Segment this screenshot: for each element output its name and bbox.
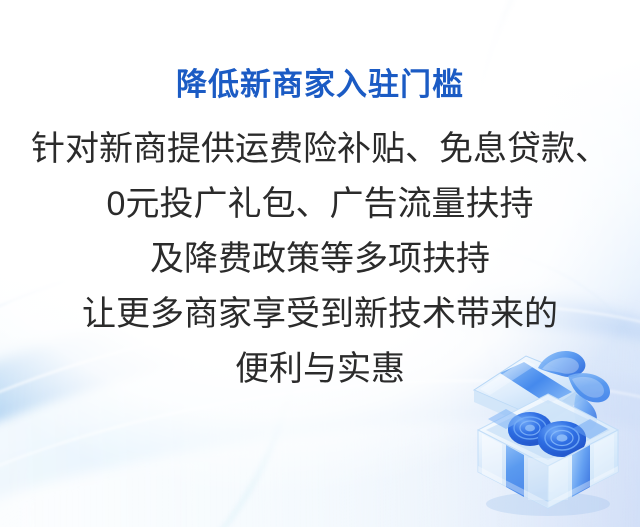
body-line: 让更多商家享受到新技术带来的 bbox=[0, 287, 640, 342]
promo-poster: 降低新商家入驻门槛 针对新商提供运费险补贴、免息贷款、 0元投广礼包、广告流量扶… bbox=[0, 0, 640, 527]
page-title: 降低新商家入驻门槛 bbox=[0, 68, 640, 102]
gift-box-icon bbox=[462, 338, 634, 518]
body-line: 及降费政策等多项扶持 bbox=[0, 232, 640, 287]
body-line: 针对新商提供运费险补贴、免息贷款、 bbox=[0, 122, 640, 177]
body-line: 0元投广礼包、广告流量扶持 bbox=[0, 177, 640, 232]
